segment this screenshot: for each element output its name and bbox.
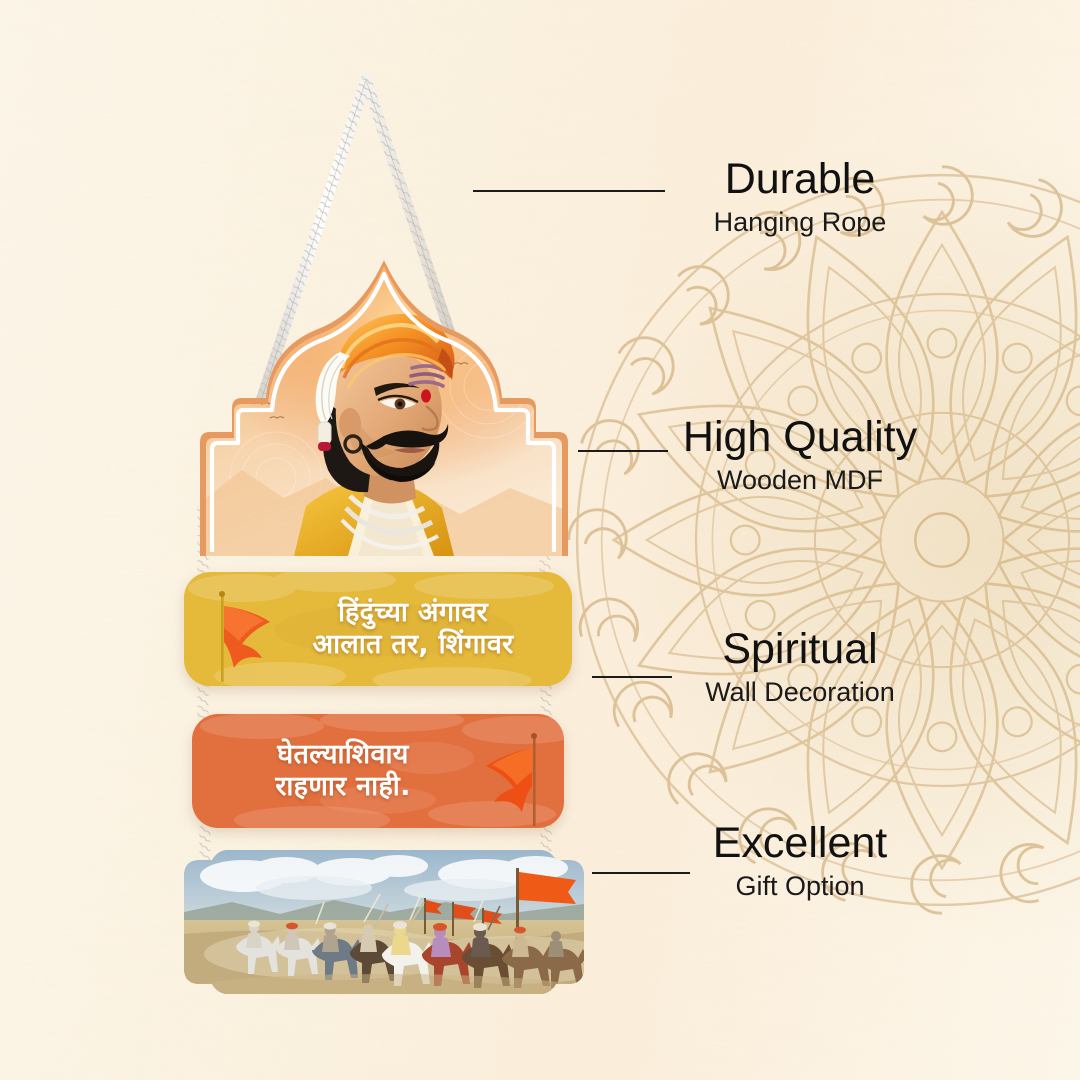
product-assembly: हिंदुंच्या अंगावर आलात तर, शिंगावर — [170, 60, 600, 990]
plaque-yellow-line1: हिंदुंच्या अंगावर — [338, 597, 488, 629]
leader-line — [473, 190, 665, 192]
anno-excellent-subtitle: Gift Option — [666, 871, 934, 902]
infographic-canvas: हिंदुंच्या अंगावर आलात तर, शिंगावर — [0, 0, 1080, 1080]
anno-durable-subtitle: Hanging Rope — [666, 207, 934, 238]
plaque-yellow: हिंदुंच्या अंगावर आलात तर, शिंगावर — [184, 572, 572, 686]
anno-excellent-title: Excellent — [666, 822, 934, 866]
plaque-orange: घेतल्याशिवाय राहणार नाही. — [192, 714, 564, 828]
anno-durable-text: Durable Hanging Rope — [666, 158, 934, 238]
anno-spiritual-title: Spiritual — [666, 628, 934, 672]
anno-excellent-text: Excellent Gift Option — [666, 822, 934, 902]
plaque-yellow-line2: आलात तर, शिंगावर — [313, 629, 514, 661]
battle-scene-panel — [184, 850, 584, 996]
plaque-orange-line1: घेतल्याशिवाय — [277, 739, 408, 771]
anno-high-quality-subtitle: Wooden MDF — [666, 465, 934, 496]
anno-high-quality-title: High Quality — [666, 416, 934, 460]
leader-line — [578, 450, 668, 452]
plaque-orange-line2: राहणार नाही. — [275, 771, 410, 803]
plaque-orange-text: घेतल्याशिवाय राहणार नाही. — [192, 714, 564, 828]
anno-spiritual-text: Spiritual Wall Decoration — [666, 628, 934, 708]
shivaji-maharaj-portrait-panel — [198, 256, 570, 556]
anno-spiritual-subtitle: Wall Decoration — [666, 677, 934, 708]
plaque-yellow-text: हिंदुंच्या अंगावर आलात तर, शिंगावर — [184, 572, 572, 686]
leader-line — [592, 676, 672, 678]
anno-high-quality-text: High Quality Wooden MDF — [666, 416, 934, 496]
anno-durable-title: Durable — [666, 158, 934, 202]
